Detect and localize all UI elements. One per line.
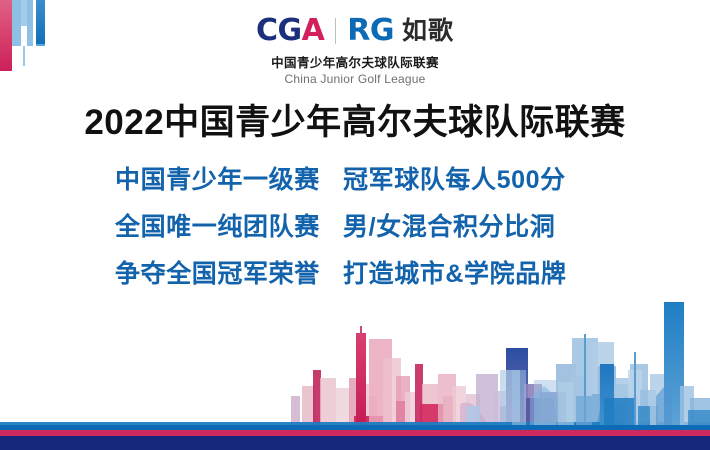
feature-row: 全国唯一纯团队赛 男/女混合积分比洞 [0,207,710,254]
brand-logo: CGA RG 如歌 中国青少年高尔夫球队际联赛 China Junior Gol… [0,14,710,86]
cga-cg-text: CG [256,13,302,48]
feature-right-text: 打造城市&学院品牌 [343,254,595,290]
poster-canvas: CGA RG 如歌 中国青少年高尔夫球队际联赛 China Junior Gol… [0,0,710,450]
feature-left-text: 中国青少年一级赛 [115,160,343,196]
cga-a-text: A [302,13,325,48]
feature-right-text: 冠军球队每人500分 [343,160,595,196]
logo-wordmark-row: CGA RG 如歌 [0,14,710,48]
feature-right-text: 男/女混合积分比洞 [343,207,595,243]
page-title: 2022中国青少年高尔夫球队际联赛 [0,94,710,145]
feature-row: 争夺全国冠军荣誉 打造城市&学院品牌 [0,254,710,301]
logo-subtitle-english: China Junior Golf League [0,72,710,86]
bottom-stripes [0,425,710,450]
cga-wordmark: CGA [256,16,324,46]
skyline-buildings-right [512,302,710,426]
feature-list: 中国青少年一级赛 冠军球队每人500分 全国唯一纯团队赛 男/女混合积分比洞 争… [0,160,710,301]
ruge-chinese-wordmark: 如歌 [402,19,454,44]
rg-wordmark: RG [347,16,394,46]
feature-row: 中国青少年一级赛 冠军球队每人500分 [0,160,710,207]
logo-subtitle-chinese: 中国青少年高尔夫球队际联赛 [0,52,710,71]
feature-left-text: 争夺全国冠军荣誉 [115,254,343,290]
feature-left-text: 全国唯一纯团队赛 [115,207,343,243]
stripe-navy [0,436,710,450]
logo-divider [335,18,336,44]
skyline-buildings-pink [291,326,466,426]
